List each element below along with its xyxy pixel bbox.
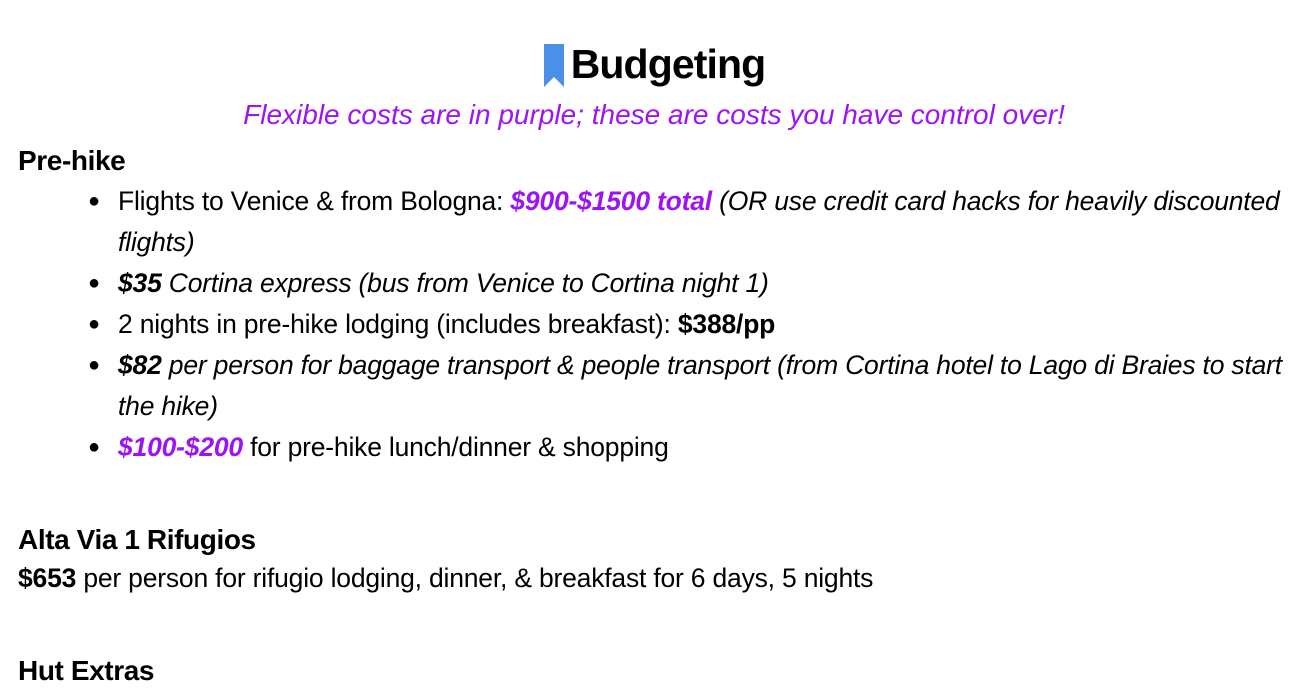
budgeting-document-page: Budgeting Flexible costs are in purple; … [0,0,1308,696]
list-item: ● 2 nights in pre-hike lodging (includes… [18,304,1290,345]
bullet-amount-flights: $900-$1500 total [510,186,712,216]
list-item: ● $82 per person for baggage transport &… [18,345,1290,427]
list-item: ● Flights to Venice & from Bologna: $900… [18,181,1290,263]
section-heading-hut-extras: Hut Extras [18,654,1290,688]
bullet-text-lodging: 2 nights in pre-hike lodging (includes b… [118,309,678,339]
bullet-text-plain: Flights to Venice & from Bologna: [118,186,510,216]
bullet-dot-icon: ● [88,345,100,386]
list-item: ● $35 Cortina express (bus from Venice t… [18,263,1290,304]
list-item: ● $100-$200 for pre-hike lunch/dinner & … [18,427,1290,468]
bullet-amount-lodging: $388/pp [678,309,775,339]
section-heading-pre-hike: Pre-hike [18,144,1290,178]
bullet-dot-icon: ● [88,263,100,304]
rifugios-amount: $653 [18,563,76,593]
bookmark-icon [543,44,565,88]
rifugios-description: per person for rifugio lodging, dinner, … [76,563,873,593]
bullet-dot-icon: ● [88,304,100,345]
page-title-row: Budgeting [18,0,1290,86]
bullet-note-baggage-transport: per person for baggage transport & peopl… [118,350,1282,421]
section-heading-alta-via-1-rifugios: Alta Via 1 Rifugios [18,523,1290,557]
bullet-note-lunch-dinner-shopping: for pre-hike lunch/dinner & shopping [243,432,669,462]
rifugios-cost-line: $653 per person for rifugio lodging, din… [18,558,1290,599]
pre-hike-bullet-list: ● Flights to Venice & from Bologna: $900… [18,181,1290,468]
section-spacer [18,599,1290,641]
bullet-dot-icon: ● [88,427,100,468]
subtitle-flexible-costs-note: Flexible costs are in purple; these are … [18,99,1290,131]
bullet-amount-cortina-express: $35 [118,268,162,298]
bullet-dot-icon: ● [88,181,100,222]
bullet-amount-lunch-dinner-shopping: $100-$200 [118,432,243,462]
bullet-amount-baggage-transport: $82 [118,350,162,380]
page-title: Budgeting [571,44,766,85]
section-spacer [18,468,1290,510]
bullet-note-cortina-express: Cortina express (bus from Venice to Cort… [162,268,769,298]
